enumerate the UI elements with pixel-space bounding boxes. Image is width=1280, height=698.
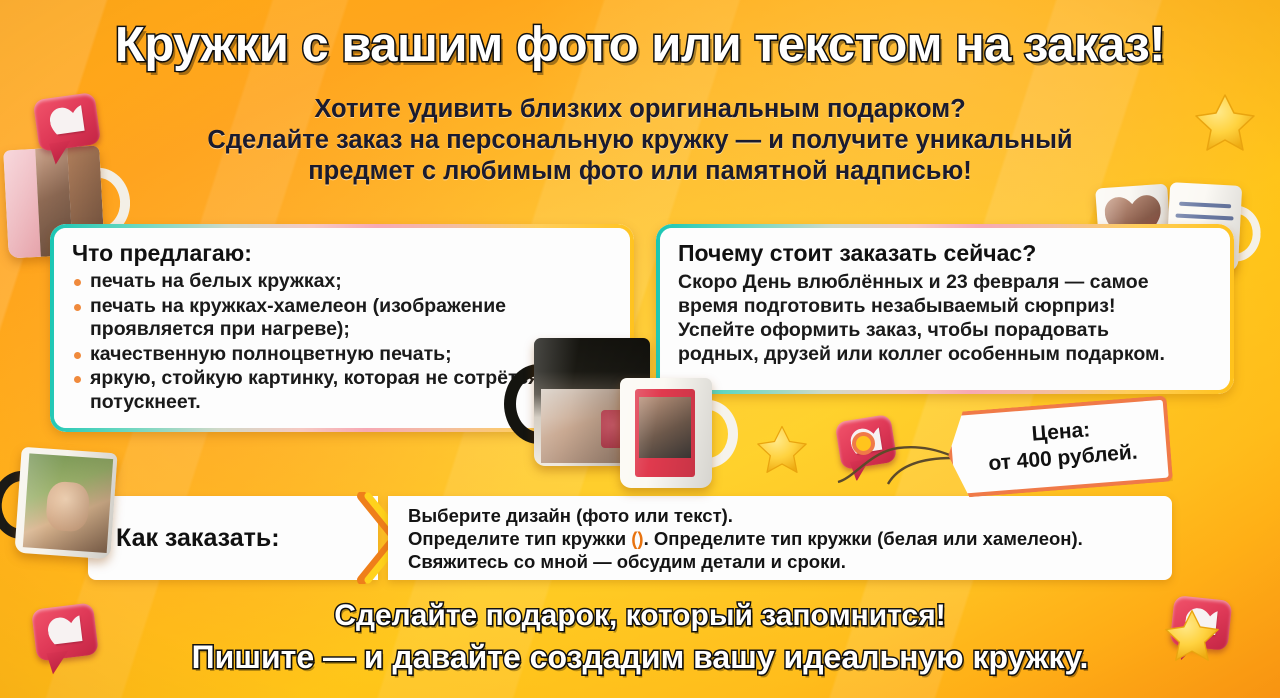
promo-poster: Кружки с вашим фото или текстом на заказ… [0, 0, 1280, 698]
step2-part-a: Определите тип кружки [408, 528, 631, 549]
offer-bullet-item: печать на кружках-хамелеон (изображение … [72, 295, 614, 342]
mug-bottom-left [14, 447, 117, 559]
why-line: родных, друзей или коллег особенным пода… [678, 342, 1214, 366]
bullet-dot-icon [74, 376, 81, 383]
how-to-order-steps: Выберите дизайн (фото или текст). Опреде… [388, 496, 1172, 580]
poster-headline: Кружки с вашим фото или текстом на заказ… [0, 17, 1280, 73]
offer-bullet-text: печать на белых кружках; [90, 270, 342, 292]
star-mid-center [756, 424, 808, 474]
subheadline-line-1: Хотите удивить близких оригинальным пода… [0, 94, 1280, 125]
why-card-title: Почему стоит заказать сейчас? [678, 240, 1214, 267]
price-value: от 400 рублей. [987, 440, 1138, 478]
how-to-order-label: Как заказать: [88, 496, 378, 580]
how-to-order-step-1: Выберите дизайн (фото или текст). [408, 504, 1172, 527]
subheadline-line-3: предмет с любимым фото или памятной надп… [0, 156, 1280, 187]
mug-body [620, 378, 712, 488]
offer-card-title: Что предлагаю: [72, 240, 614, 267]
bullet-dot-icon [74, 352, 81, 359]
step2-part-b: . Определите тип кружки (белая или хамел… [644, 528, 1083, 549]
mug-body [14, 447, 117, 559]
offer-bullet-item: качественную полноцветную печать; [72, 343, 614, 367]
bullet-dot-icon [74, 304, 81, 311]
why-card-body: Скоро День влюблённых и 23 февраля — сам… [678, 270, 1214, 366]
price-tag: Цена: от 400 рублей. [836, 404, 1126, 496]
offer-bullet-item: печать на белых кружках; [72, 270, 614, 294]
price-tag-hole-icon [852, 432, 875, 455]
mug-center-white [620, 378, 712, 488]
why-line: Скоро День влюблённых и 23 февраля — сам… [678, 270, 1214, 294]
why-line: Успейте оформить заказ, чтобы порадовать [678, 318, 1214, 342]
why-line: время подготовить незабываемый сюрприз! [678, 294, 1214, 318]
poster-subheadline: Хотите удивить близких оригинальным пода… [0, 94, 1280, 187]
cta-line-2: Пишите — и давайте создадим вашу идеальн… [0, 636, 1280, 678]
how-to-order-step-2: Определите тип кружки (). Определите тип… [408, 527, 1172, 550]
step2-empty-parens: () [631, 528, 643, 549]
offer-bullet-text: печать на кружках-хамелеон (изображение … [90, 295, 506, 341]
call-to-action: Сделайте подарок, который запомнится! Пи… [0, 596, 1280, 678]
offer-bullet-text: качественную полноцветную печать; [90, 343, 452, 365]
why-order-card: Почему стоит заказать сейчас? Скоро День… [656, 224, 1234, 394]
how-to-order-step-3: Свяжитесь со мной — обсудим детали и сро… [408, 550, 1172, 573]
how-to-order-ribbon: Как заказать: Выберите дизайн (фото или … [88, 496, 1172, 580]
subheadline-line-2: Сделайте заказ на персональную кружку — … [0, 125, 1280, 156]
bullet-dot-icon [74, 279, 81, 286]
cta-line-1: Сделайте подарок, который запомнится! [0, 596, 1280, 636]
